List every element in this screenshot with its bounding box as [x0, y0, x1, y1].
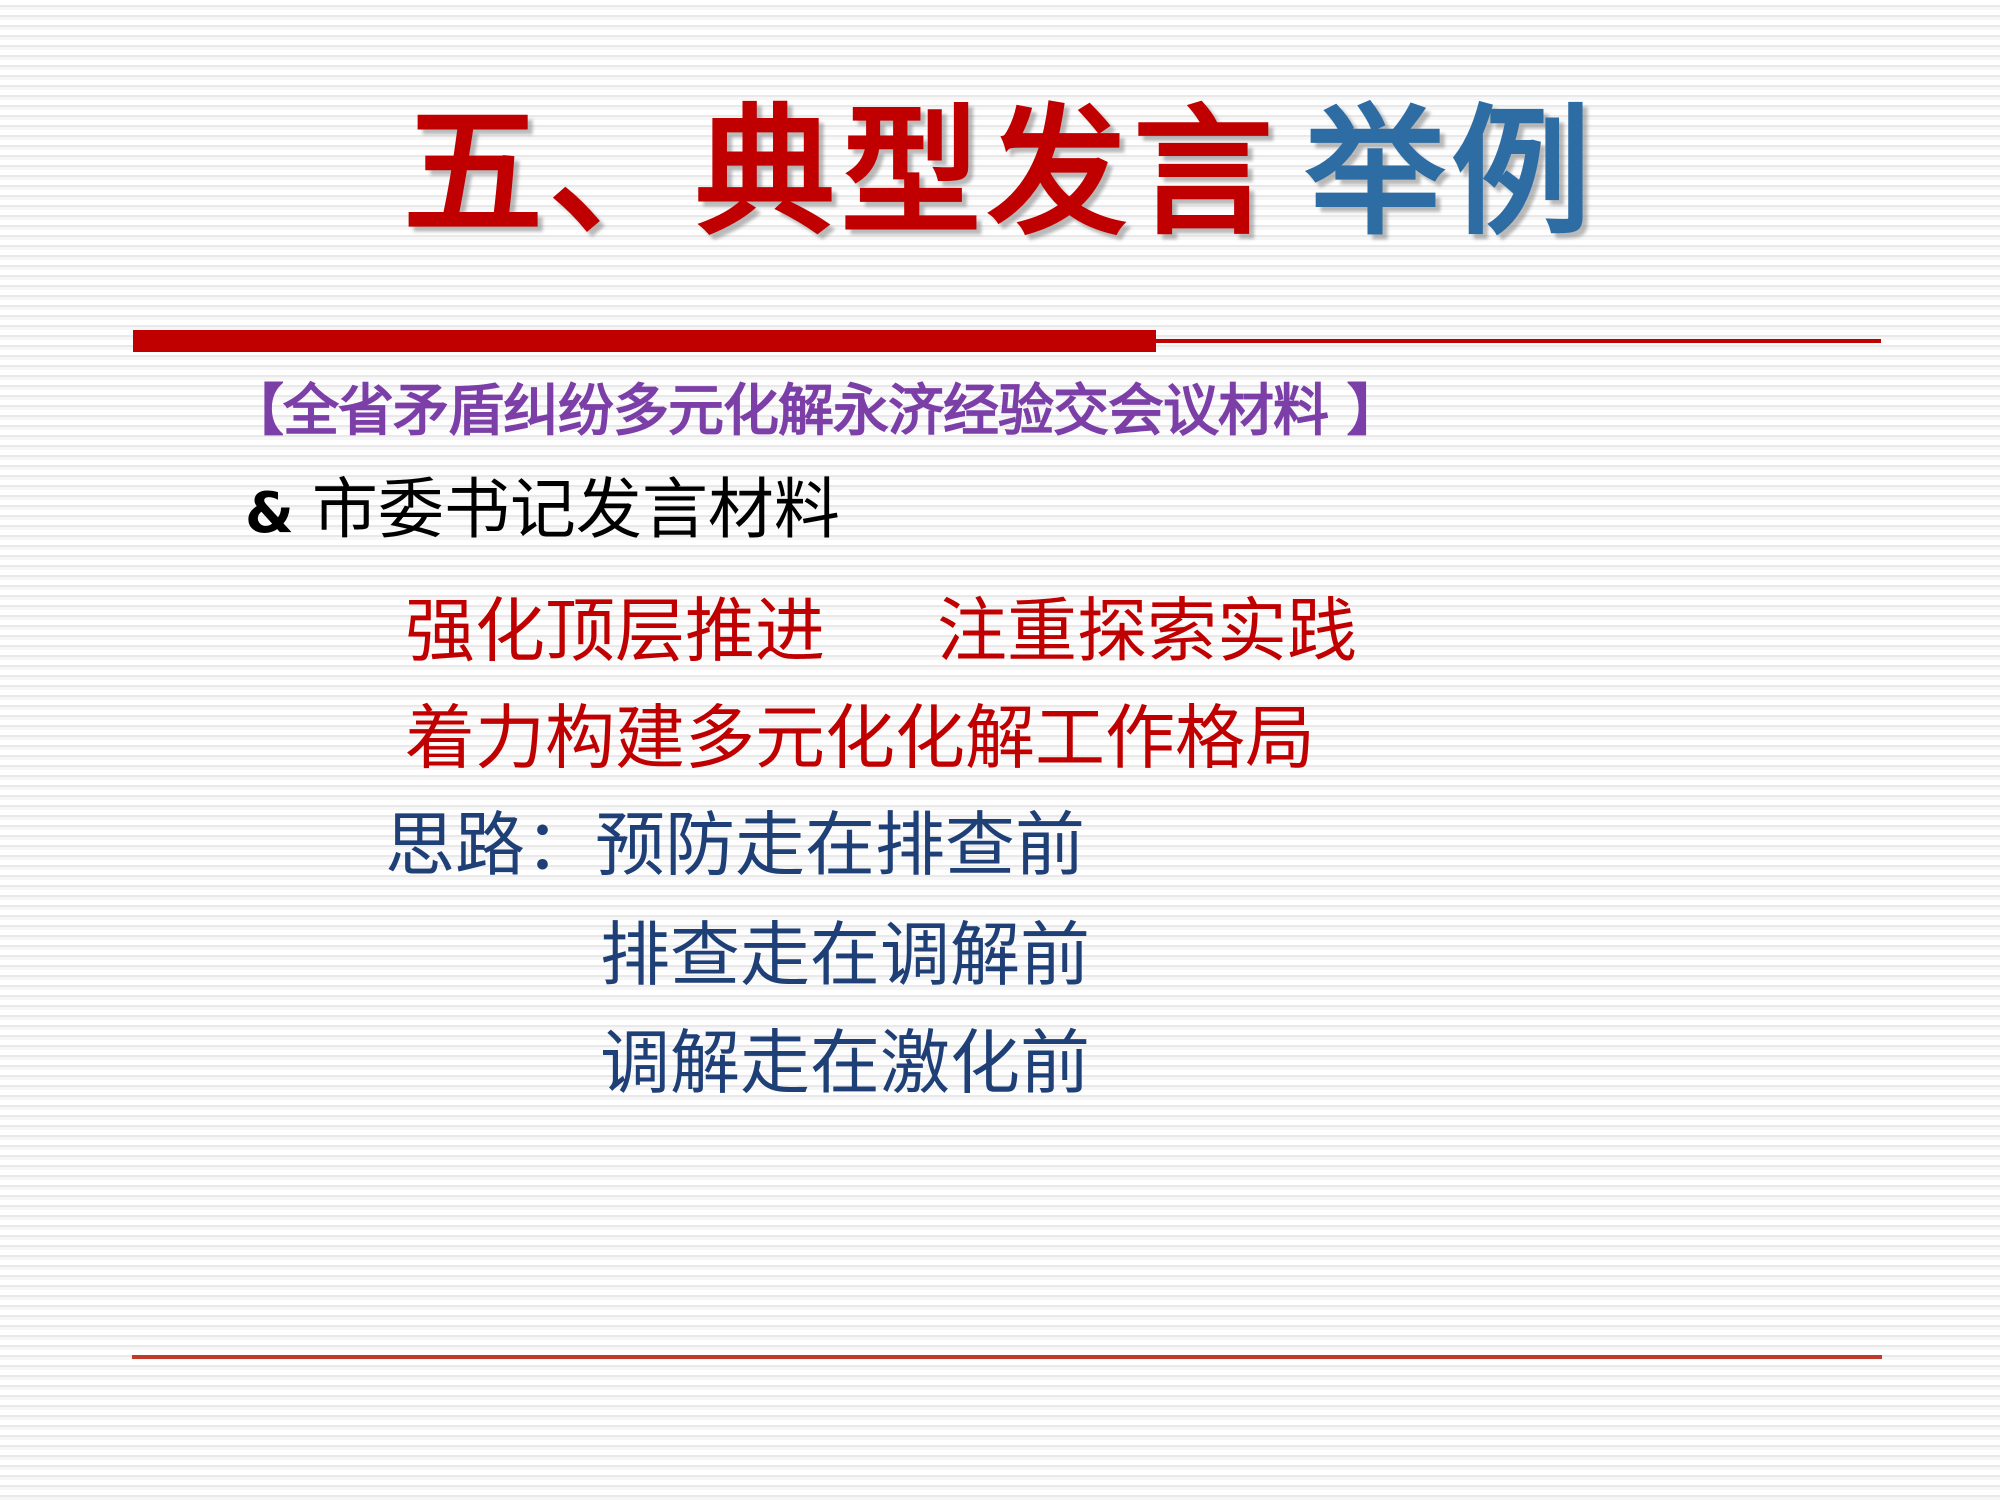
presentation-slide: 五、典型发言举例 【全省矛盾纠纷多元化解永济经验交会议材料 】 &市委书记发言材…	[0, 0, 2000, 1500]
theme-line-2: 着力构建多元化化解工作格局	[405, 705, 1315, 775]
slide-title-main: 五、典型发言	[403, 92, 1279, 255]
approach-line-2: 排查走在调解前	[600, 922, 1090, 992]
theme-line-1-part-2: 注重探索实践	[937, 594, 1357, 671]
speaker-material-line: &市委书记发言材料	[245, 478, 840, 544]
ampersand-bullet-icon: &	[245, 481, 294, 546]
slide-title: 五、典型发言举例	[0, 104, 2000, 244]
theme-line-1: 强化顶层推进注重探索实践	[405, 598, 1357, 668]
title-divider-thick-bar	[133, 330, 1156, 352]
approach-line-3: 调解走在激化前	[600, 1030, 1090, 1100]
slide-title-accent: 举例	[1305, 92, 1597, 255]
theme-line-1-part-1: 强化顶层推进	[405, 594, 825, 671]
footer-divider-rule	[132, 1355, 1882, 1359]
approach-line-1: 思路：预防走在排查前	[385, 812, 1085, 882]
speaker-material-label: 市委书记发言材料	[312, 474, 840, 547]
source-note: 【全省矛盾纠纷多元化解永济经验交会议材料 】	[228, 384, 1402, 440]
